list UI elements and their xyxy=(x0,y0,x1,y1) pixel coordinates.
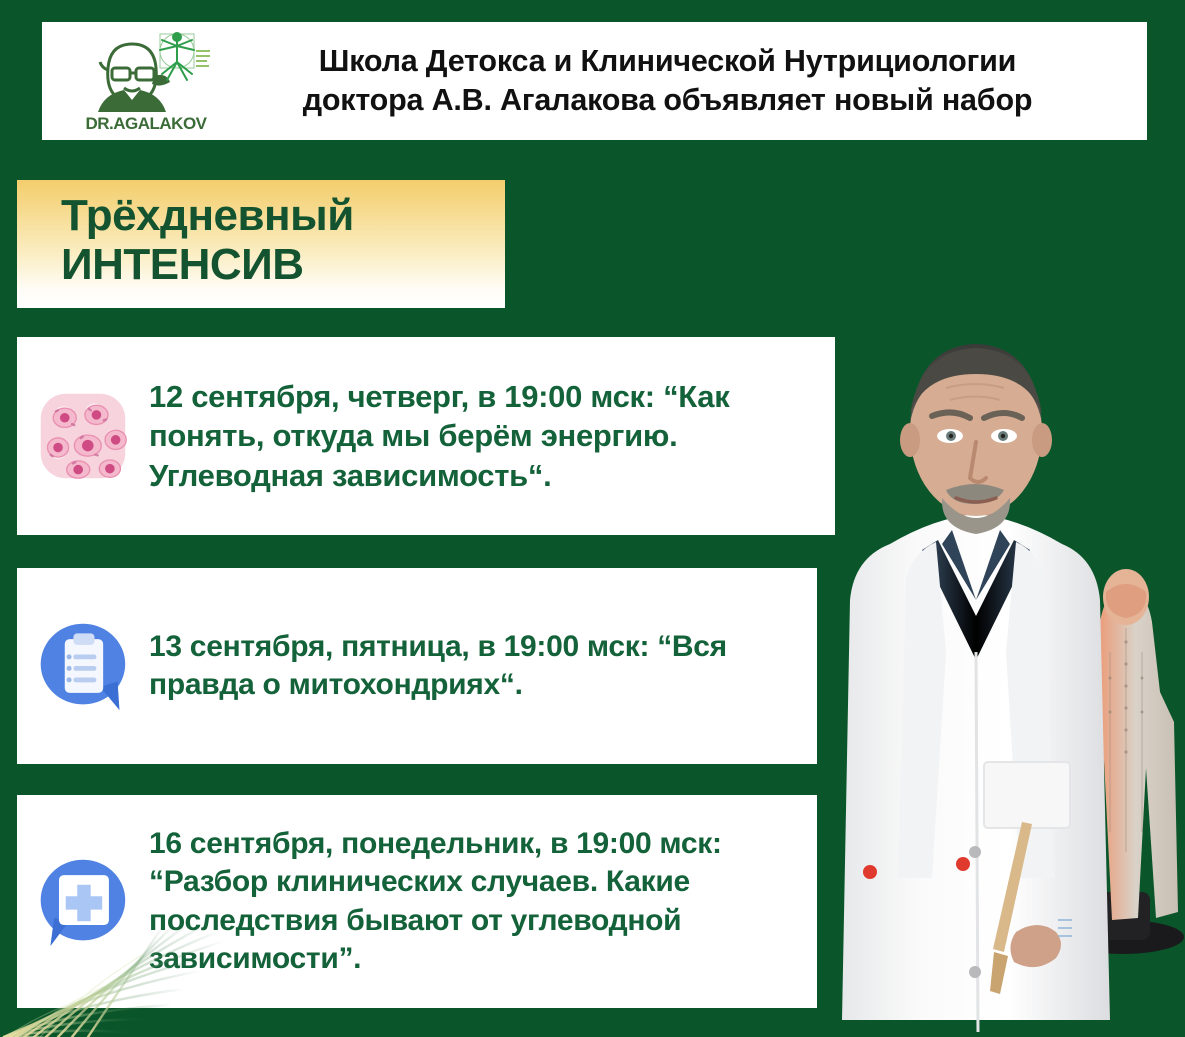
clipboard-speech-bubble-icon xyxy=(17,618,149,714)
event-text: 13 сентября, пятница, в 19:00 мск: “Вся … xyxy=(149,628,817,704)
vitruvian-man-icon xyxy=(154,28,212,90)
medical-cross-speech-bubble-icon xyxy=(17,854,149,950)
event-text: 12 сентября, четверг, в 19:00 мск: “Как … xyxy=(149,377,835,495)
header-title: Школа Детокса и Клинической Нутрициологи… xyxy=(222,42,1147,119)
header-title-line-1: Школа Детокса и Клинической Нутрициологи… xyxy=(222,42,1113,81)
brand-logo[interactable]: DR.AGALAKOV xyxy=(42,22,222,140)
poster-root: DR.AGALAKOV Школа Детокса и Клинической … xyxy=(0,0,1185,1037)
event-text: 16 сентября, понедельник, в 19:00 мск: “… xyxy=(149,825,817,977)
banner-line-1: Трёхдневный xyxy=(61,194,505,239)
event-card[interactable]: 16 сентября, понедельник, в 19:00 мск: “… xyxy=(17,795,817,1008)
anatomical-model-figure xyxy=(1060,569,1184,954)
header-card: DR.AGALAKOV Школа Детокса и Клинической … xyxy=(42,22,1147,140)
header-title-line-2: доктора А.В. Агалакова объявляет новый н… xyxy=(222,81,1113,120)
event-card[interactable]: 12 сентября, четверг, в 19:00 мск: “Как … xyxy=(17,337,835,535)
banner-line-2: ИНТЕНСИВ xyxy=(61,243,505,288)
logo-wordmark: DR.AGALAKOV xyxy=(80,114,212,134)
event-card[interactable]: 13 сентября, пятница, в 19:00 мск: “Вся … xyxy=(17,568,817,764)
intensive-banner: Трёхдневный ИНТЕНСИВ xyxy=(17,180,505,308)
doctor-figure xyxy=(842,344,1110,1032)
cell-tissue-icon xyxy=(17,388,149,484)
